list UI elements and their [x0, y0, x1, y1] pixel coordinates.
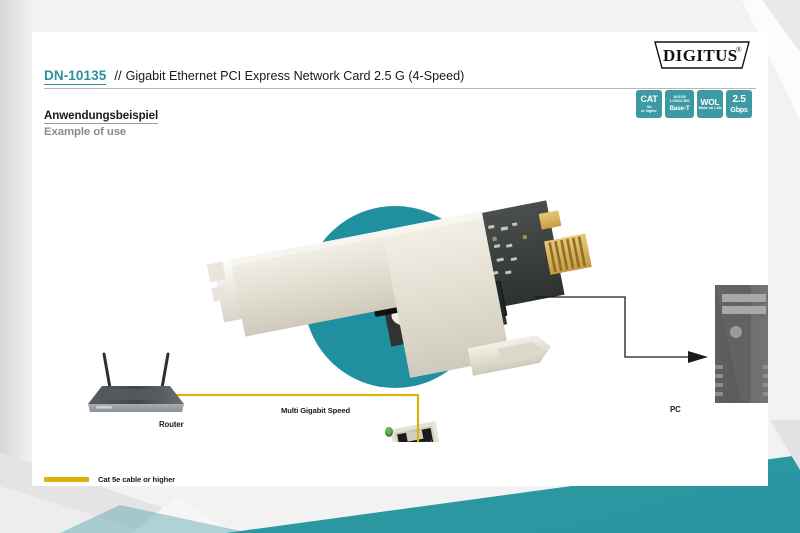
section-title-en: Example of use: [44, 126, 158, 138]
product-name: Gigabit Ethernet PCI Express Network Car…: [126, 69, 465, 83]
connection-speed-label: Multi Gigabit Speed: [281, 406, 350, 415]
feature-badge-group: CAT 6a or higher 10/100/ 1.000/2.500 Bas…: [636, 90, 752, 118]
pc-label: PC: [670, 405, 681, 414]
status-leds: [383, 427, 393, 442]
router-label: Router: [159, 420, 184, 429]
base-t-badge-line2: 1.000/2.500: [669, 100, 689, 104]
base-t-badge: 10/100/ 1.000/2.500 Base-T: [665, 90, 694, 118]
page-root: DIGITUS ® DN-10135 // Gigabit Ethernet P…: [0, 0, 800, 533]
content-card: DIGITUS ® DN-10135 // Gigabit Ethernet P…: [32, 32, 768, 486]
wol-badge-line1: WOL: [701, 98, 720, 106]
router-illustration: [88, 354, 184, 412]
connection-arrow: [535, 297, 708, 363]
base-t-badge-line3: Base-T: [669, 106, 689, 112]
application-diagram: PASSED QC: [32, 142, 768, 442]
logo-registered-mark: ®: [736, 45, 742, 54]
wol-badge-line2: Wake on LAN: [698, 107, 721, 111]
section-title-de: Anwendungsbeispiel: [44, 109, 158, 124]
cable-legend: Cat 5e cable or higher: [44, 475, 175, 484]
network-cable: [159, 395, 418, 442]
cable-legend-swatch: [44, 477, 89, 482]
header-separator: //: [114, 68, 121, 83]
speed-badge-line2: Gbps: [730, 106, 747, 113]
speed-badge: 2.5 Gbps: [726, 90, 752, 118]
speed-badge-line1: 2.5: [732, 95, 745, 105]
wol-badge: WOL Wake on LAN: [697, 90, 723, 118]
cat6a-badge: CAT 6a or higher: [636, 90, 662, 118]
header-divider: [44, 88, 756, 89]
logo-wordmark: DIGITUS: [663, 46, 738, 65]
digitus-logo: DIGITUS ®: [652, 40, 752, 70]
cat6a-badge-line3: or higher: [641, 110, 657, 114]
cat6a-badge-line2: 6a: [647, 105, 651, 109]
pc-illustration: [715, 285, 768, 403]
network-card-illustration: PASSED QC: [206, 194, 599, 442]
product-sku: DN-10135: [44, 68, 106, 85]
cable-legend-label: Cat 5e cable or higher: [98, 475, 175, 484]
section-heading: Anwendungsbeispiel Example of use: [44, 106, 158, 138]
cat6a-badge-line1: CAT: [641, 95, 658, 104]
